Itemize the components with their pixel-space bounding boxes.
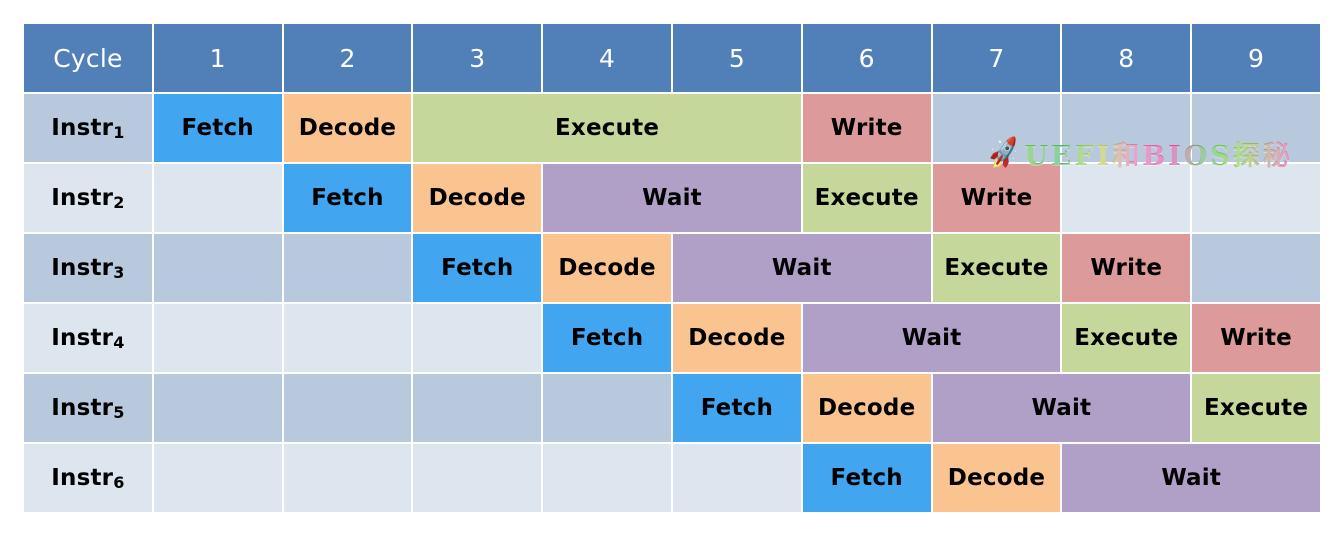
row-label-index: 1 bbox=[113, 123, 124, 142]
header-cycle-2: 2 bbox=[284, 24, 412, 92]
empty-cell bbox=[1062, 164, 1190, 232]
empty-cell bbox=[413, 304, 541, 372]
table-row: Instr5FetchDecodeWaitExecute bbox=[24, 374, 1320, 442]
empty-cell bbox=[284, 304, 412, 372]
empty-cell bbox=[673, 444, 801, 512]
row-label-base: Instr bbox=[51, 465, 113, 491]
empty-cell bbox=[543, 374, 671, 442]
stage-cell-fetch: Fetch bbox=[673, 374, 801, 442]
empty-cell bbox=[284, 234, 412, 302]
stage-cell-decode: Decode bbox=[933, 444, 1061, 512]
empty-cell bbox=[933, 94, 1061, 162]
stage-cell-write: Write bbox=[1192, 304, 1320, 372]
header-cycle-label: Cycle bbox=[24, 24, 152, 92]
stage-cell-execute: Execute bbox=[933, 234, 1061, 302]
row-label: Instr4 bbox=[24, 304, 152, 372]
row-label: Instr1 bbox=[24, 94, 152, 162]
empty-cell bbox=[413, 444, 541, 512]
row-label: Instr6 bbox=[24, 444, 152, 512]
table-row: Instr3FetchDecodeWaitExecuteWrite bbox=[24, 234, 1320, 302]
stage-cell-decode: Decode bbox=[543, 234, 671, 302]
stage-cell-write: Write bbox=[803, 94, 931, 162]
table-row: Instr6FetchDecodeWait bbox=[24, 444, 1320, 512]
table-header: Cycle123456789 bbox=[24, 24, 1320, 92]
stage-cell-wait: Wait bbox=[673, 234, 931, 302]
empty-cell bbox=[284, 374, 412, 442]
row-label-index: 4 bbox=[113, 333, 124, 352]
header-row: Cycle123456789 bbox=[24, 24, 1320, 92]
row-label-index: 6 bbox=[113, 473, 124, 492]
header-cycle-7: 7 bbox=[933, 24, 1061, 92]
table-body: Instr1FetchDecodeExecuteWriteInstr2Fetch… bbox=[24, 94, 1320, 512]
stage-cell-wait: Wait bbox=[803, 304, 1061, 372]
header-cycle-8: 8 bbox=[1062, 24, 1190, 92]
stage-cell-execute: Execute bbox=[1192, 374, 1320, 442]
row-label-index: 3 bbox=[113, 263, 124, 282]
stage-cell-execute: Execute bbox=[413, 94, 800, 162]
row-label-index: 2 bbox=[113, 193, 124, 212]
stage-cell-wait: Wait bbox=[543, 164, 801, 232]
row-label-base: Instr bbox=[51, 255, 113, 281]
stage-cell-execute: Execute bbox=[803, 164, 931, 232]
stage-cell-decode: Decode bbox=[803, 374, 931, 442]
stage-cell-wait: Wait bbox=[933, 374, 1191, 442]
stage-cell-write: Write bbox=[933, 164, 1061, 232]
row-label-base: Instr bbox=[51, 185, 113, 211]
table-row: Instr2FetchDecodeWaitExecuteWrite bbox=[24, 164, 1320, 232]
header-cycle-1: 1 bbox=[154, 24, 282, 92]
empty-cell bbox=[154, 164, 282, 232]
stage-cell-write: Write bbox=[1062, 234, 1190, 302]
row-label-base: Instr bbox=[51, 115, 113, 141]
row-label-base: Instr bbox=[51, 325, 113, 351]
empty-cell bbox=[1192, 94, 1320, 162]
empty-cell bbox=[154, 444, 282, 512]
stage-cell-fetch: Fetch bbox=[154, 94, 282, 162]
table-row: Instr4FetchDecodeWaitExecuteWrite bbox=[24, 304, 1320, 372]
empty-cell bbox=[1062, 94, 1190, 162]
empty-cell bbox=[154, 234, 282, 302]
empty-cell bbox=[1192, 234, 1320, 302]
stage-cell-decode: Decode bbox=[284, 94, 412, 162]
stage-cell-fetch: Fetch bbox=[284, 164, 412, 232]
row-label-index: 5 bbox=[113, 403, 124, 422]
stage-cell-decode: Decode bbox=[413, 164, 541, 232]
empty-cell bbox=[154, 304, 282, 372]
empty-cell bbox=[154, 374, 282, 442]
empty-cell bbox=[413, 374, 541, 442]
empty-cell bbox=[543, 444, 671, 512]
stage-cell-execute: Execute bbox=[1062, 304, 1190, 372]
header-cycle-3: 3 bbox=[413, 24, 541, 92]
header-cycle-6: 6 bbox=[803, 24, 931, 92]
stage-cell-wait: Wait bbox=[1062, 444, 1320, 512]
header-cycle-4: 4 bbox=[543, 24, 671, 92]
pipeline-timing-table: Cycle123456789 Instr1FetchDecodeExecuteW… bbox=[22, 22, 1322, 514]
stage-cell-fetch: Fetch bbox=[413, 234, 541, 302]
empty-cell bbox=[1192, 164, 1320, 232]
stage-cell-decode: Decode bbox=[673, 304, 801, 372]
stage-cell-fetch: Fetch bbox=[803, 444, 931, 512]
row-label-base: Instr bbox=[51, 395, 113, 421]
header-cycle-9: 9 bbox=[1192, 24, 1320, 92]
row-label: Instr5 bbox=[24, 374, 152, 442]
table-row: Instr1FetchDecodeExecuteWrite bbox=[24, 94, 1320, 162]
empty-cell bbox=[284, 444, 412, 512]
pipeline-diagram: Cycle123456789 Instr1FetchDecodeExecuteW… bbox=[0, 0, 1344, 536]
header-cycle-5: 5 bbox=[673, 24, 801, 92]
row-label: Instr3 bbox=[24, 234, 152, 302]
row-label: Instr2 bbox=[24, 164, 152, 232]
stage-cell-fetch: Fetch bbox=[543, 304, 671, 372]
